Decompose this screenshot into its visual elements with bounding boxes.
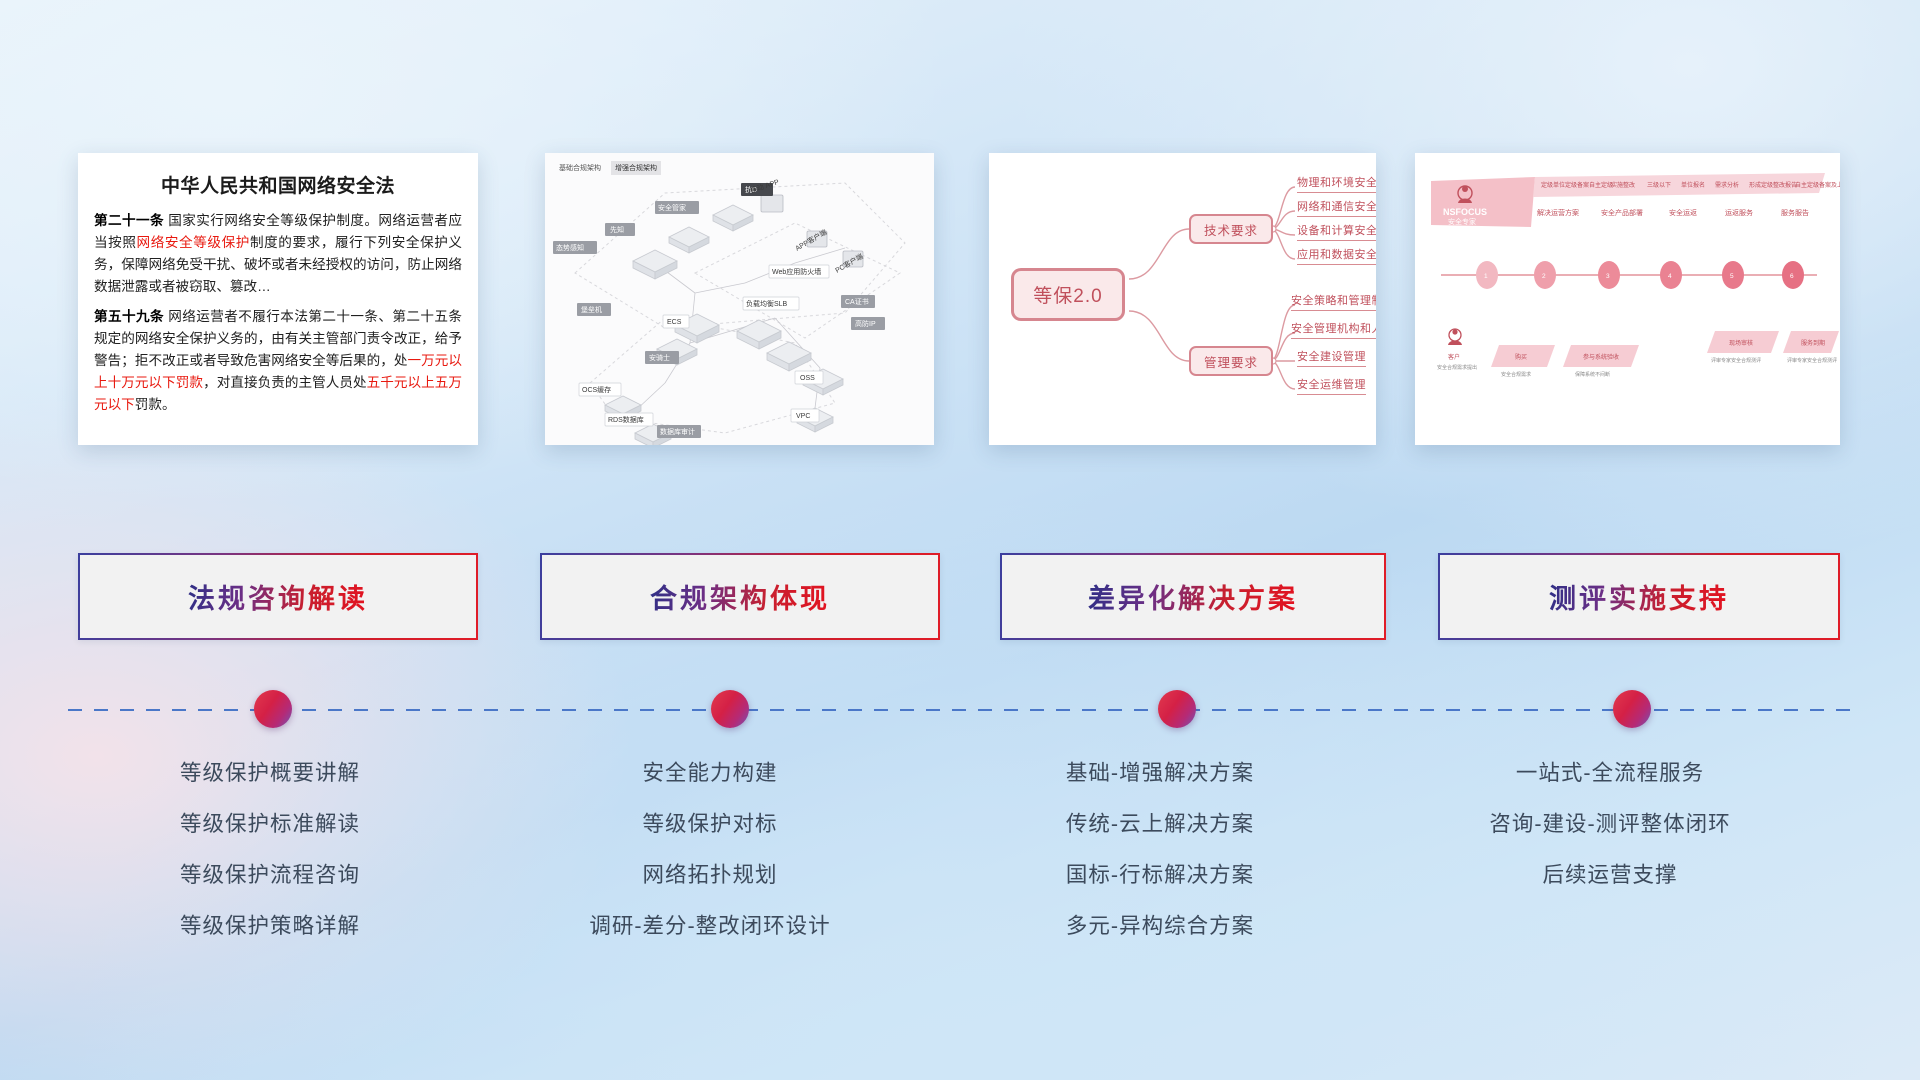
svg-text:高防IP: 高防IP — [855, 319, 876, 328]
mind-map-leaf[interactable]: 安全管理机构和人员 — [1291, 320, 1376, 339]
detail-item: 传统-云上解决方案 — [950, 799, 1370, 850]
law-text: 罚款。 — [135, 397, 176, 412]
law-text: ，对直接负责的主管人员处 — [203, 375, 367, 390]
detail-item: 基础-增强解决方案 — [950, 748, 1370, 799]
card-compliance-architecture[interactable]: 基础合规架构 增强合规架构 — [545, 153, 934, 445]
headline-label: 测评实施支持 — [1549, 577, 1729, 616]
svg-text:服务到期: 服务到期 — [1801, 339, 1825, 347]
mind-map-branch-management[interactable]: 管理要求 — [1189, 346, 1273, 376]
headline-label: 差异化解决方案 — [1088, 577, 1298, 616]
timeline-dot-4[interactable] — [1613, 690, 1651, 728]
svg-text:形成定级整改报告: 形成定级整改报告 — [1749, 181, 1797, 189]
svg-text:态势感知: 态势感知 — [556, 243, 584, 252]
svg-text:VPC: VPC — [796, 413, 810, 420]
detail-item: 等级保护对标 — [500, 799, 920, 850]
mind-map-leaf[interactable]: 网络和通信安全 — [1297, 198, 1376, 217]
timeline-dot-2[interactable] — [711, 690, 749, 728]
svg-text:安全运返: 安全运返 — [1669, 208, 1697, 217]
mind-map-leaf[interactable]: 安全策略和管理制度 — [1291, 292, 1376, 311]
detail-item: 等级保护标准解读 — [60, 799, 480, 850]
svg-text:安全产品部署: 安全产品部署 — [1601, 208, 1643, 217]
svg-text:评审专家安全合规测评: 评审专家安全合规测评 — [1711, 357, 1761, 364]
svg-text:客户: 客户 — [1448, 353, 1460, 361]
detail-item: 等级保护策略详解 — [60, 901, 480, 952]
timeline-dot-1[interactable] — [254, 690, 292, 728]
svg-text:4: 4 — [1668, 273, 1672, 280]
article-body-2: 网络运营者不履行本法第二十一条、第二十五条规定的网络安全保护义务的，由有关主管部… — [94, 309, 462, 412]
card-nsfocus-timeline[interactable]: NSFOCUS 安全专家 定级单位定级备案自主定级 实施整改 三级以下 单位报名… — [1415, 153, 1840, 445]
law-document: 中华人民共和国网络安全法 第二十一条 国家实行网络安全等级保护制度。网络运营者应… — [78, 153, 478, 445]
svg-text:定级单位定级备案自主定级: 定级单位定级备案自主定级 — [1541, 181, 1613, 189]
law-paragraph-2: 第五十九条 网络运营者不履行本法第二十一条、第二十五条规定的网络安全保护义务的，… — [94, 306, 462, 416]
timeline-dot-3[interactable] — [1158, 690, 1196, 728]
svg-text:CA证书: CA证书 — [845, 297, 869, 306]
detail-item: 安全能力构建 — [500, 748, 920, 799]
headline-label: 法规咨询解读 — [188, 577, 368, 616]
svg-text:Web应用防火墙: Web应用防火墙 — [772, 267, 821, 276]
mind-map-leaf[interactable]: 安全运维管理 — [1297, 376, 1366, 395]
headline-box-3[interactable]: 差异化解决方案 — [1000, 553, 1386, 640]
headline-box-2[interactable]: 合规架构体现 — [540, 553, 940, 640]
detail-item: 网络拓扑规划 — [500, 850, 920, 901]
detail-item: 后续运营支撑 — [1400, 850, 1820, 901]
svg-text:RDS数据库: RDS数据库 — [608, 415, 644, 424]
card-mind-map[interactable]: 等保2.0 技术要求 管理要求 物理和环境安全 网络和通信安全 设备和计算安全 … — [989, 153, 1376, 445]
svg-text:服务服告: 服务服告 — [1781, 208, 1809, 217]
nsfocus-timeline: NSFOCUS 安全专家 定级单位定级备案自主定级 实施整改 三级以下 单位报名… — [1415, 153, 1840, 445]
svg-text:安全合规需求提出: 安全合规需求提出 — [1437, 364, 1477, 371]
detail-column-4: 一站式-全流程服务 咨询-建设-测评整体闭环 后续运营支撑 — [1400, 748, 1820, 901]
svg-text:ECS: ECS — [667, 319, 682, 326]
detail-column-3: 基础-增强解决方案 传统-云上解决方案 国标-行标解决方案 多元-异构综合方案 — [950, 748, 1370, 952]
timeline-dashed-line — [68, 709, 1852, 711]
mind-map-leaf[interactable]: 设备和计算安全 — [1297, 222, 1376, 241]
svg-text:购买: 购买 — [1515, 353, 1527, 361]
headline-label: 合规架构体现 — [650, 577, 830, 616]
article-number: 第二十一条 — [94, 213, 164, 228]
svg-text:保障系统不间断: 保障系统不间断 — [1575, 371, 1610, 378]
headline-box-4[interactable]: 测评实施支持 — [1438, 553, 1840, 640]
svg-text:2: 2 — [1542, 273, 1546, 280]
detail-item: 等级保护概要讲解 — [60, 748, 480, 799]
law-highlight: 网络安全等级保护 — [137, 235, 250, 250]
svg-text:3: 3 — [1606, 273, 1610, 280]
brand-sub-label: 安全专家 — [1448, 217, 1476, 226]
svg-text:5: 5 — [1730, 273, 1734, 280]
headline-box-1[interactable]: 法规咨询解读 — [78, 553, 478, 640]
mind-map-leaf[interactable]: 物理和环境安全 — [1297, 174, 1376, 193]
svg-text:现场审核: 现场审核 — [1729, 339, 1753, 347]
mind-map-root[interactable]: 等保2.0 — [1011, 268, 1125, 321]
svg-text:负载均衡SLB: 负载均衡SLB — [746, 299, 788, 308]
svg-text:运返服务: 运返服务 — [1725, 208, 1753, 217]
svg-text:1: 1 — [1484, 273, 1488, 280]
svg-text:评审专家安全合规测评: 评审专家安全合规测评 — [1787, 357, 1837, 364]
detail-item: 一站式-全流程服务 — [1400, 748, 1820, 799]
svg-text:实施整改: 实施整改 — [1611, 181, 1635, 189]
svg-text:参与系统验收: 参与系统验收 — [1583, 353, 1619, 361]
mind-map-branch-technical[interactable]: 技术要求 — [1189, 214, 1273, 244]
svg-text:解决运营方案: 解决运营方案 — [1537, 208, 1579, 217]
nsfocus-canvas: NSFOCUS 安全专家 定级单位定级备案自主定级 实施整改 三级以下 单位报名… — [1415, 153, 1840, 445]
brand-label: NSFOCUS — [1443, 207, 1487, 217]
card-cybersecurity-law[interactable]: 中华人民共和国网络安全法 第二十一条 国家实行网络安全等级保护制度。网络运营者应… — [78, 153, 478, 445]
article-number: 第五十九条 — [94, 309, 164, 324]
architecture-diagram: 基础合规架构 增强合规架构 — [545, 153, 934, 445]
law-paragraph-1: 第二十一条 国家实行网络安全等级保护制度。网络运营者应当按照网络安全等级保护制度… — [94, 210, 462, 298]
detail-item: 咨询-建设-测评整体闭环 — [1400, 799, 1820, 850]
mind-map-leaf[interactable]: 安全建设管理 — [1297, 348, 1366, 367]
svg-text:单位报名: 单位报名 — [1681, 181, 1705, 189]
detail-column-2: 安全能力构建 等级保护对标 网络拓扑规划 调研-差分-整改闭环设计 — [500, 748, 920, 952]
svg-text:数据库审计: 数据库审计 — [660, 427, 695, 436]
detail-item: 等级保护流程咨询 — [60, 850, 480, 901]
architecture-canvas: 态势感知 先知 安全管家 抗D 堡垒机 安骑士 数据库审计 — [545, 153, 934, 445]
svg-text:自主定级备案及上报定级评估报告: 自主定级备案及上报定级评估报告 — [1795, 181, 1840, 189]
svg-text:OSS: OSS — [800, 375, 815, 382]
svg-text:先知: 先知 — [610, 225, 624, 234]
detail-column-1: 等级保护概要讲解 等级保护标准解读 等级保护流程咨询 等级保护策略详解 — [60, 748, 480, 952]
mind-map: 等保2.0 技术要求 管理要求 物理和环境安全 网络和通信安全 设备和计算安全 … — [989, 153, 1376, 445]
svg-text:安骑士: 安骑士 — [649, 353, 670, 362]
law-title: 中华人民共和国网络安全法 — [94, 171, 462, 198]
svg-text:安全合规需求: 安全合规需求 — [1501, 371, 1531, 378]
detail-item: 多元-异构综合方案 — [950, 901, 1370, 952]
svg-text:堡垒机: 堡垒机 — [581, 305, 602, 314]
svg-text:三级以下: 三级以下 — [1647, 181, 1671, 189]
detail-item: 国标-行标解决方案 — [950, 850, 1370, 901]
svg-text:OCS缓存: OCS缓存 — [582, 385, 611, 394]
svg-text:6: 6 — [1790, 273, 1794, 280]
detail-item: 调研-差分-整改闭环设计 — [500, 901, 920, 952]
mind-map-leaf[interactable]: 应用和数据安全 — [1297, 246, 1376, 265]
image-card-row: 中华人民共和国网络安全法 第二十一条 国家实行网络安全等级保护制度。网络运营者应… — [0, 0, 1920, 420]
svg-text:安全管家: 安全管家 — [658, 203, 686, 212]
svg-text:需求分析: 需求分析 — [1715, 181, 1739, 189]
poster-stage: 中华人民共和国网络安全法 第二十一条 国家实行网络安全等级保护制度。网络运营者应… — [0, 0, 1920, 1080]
